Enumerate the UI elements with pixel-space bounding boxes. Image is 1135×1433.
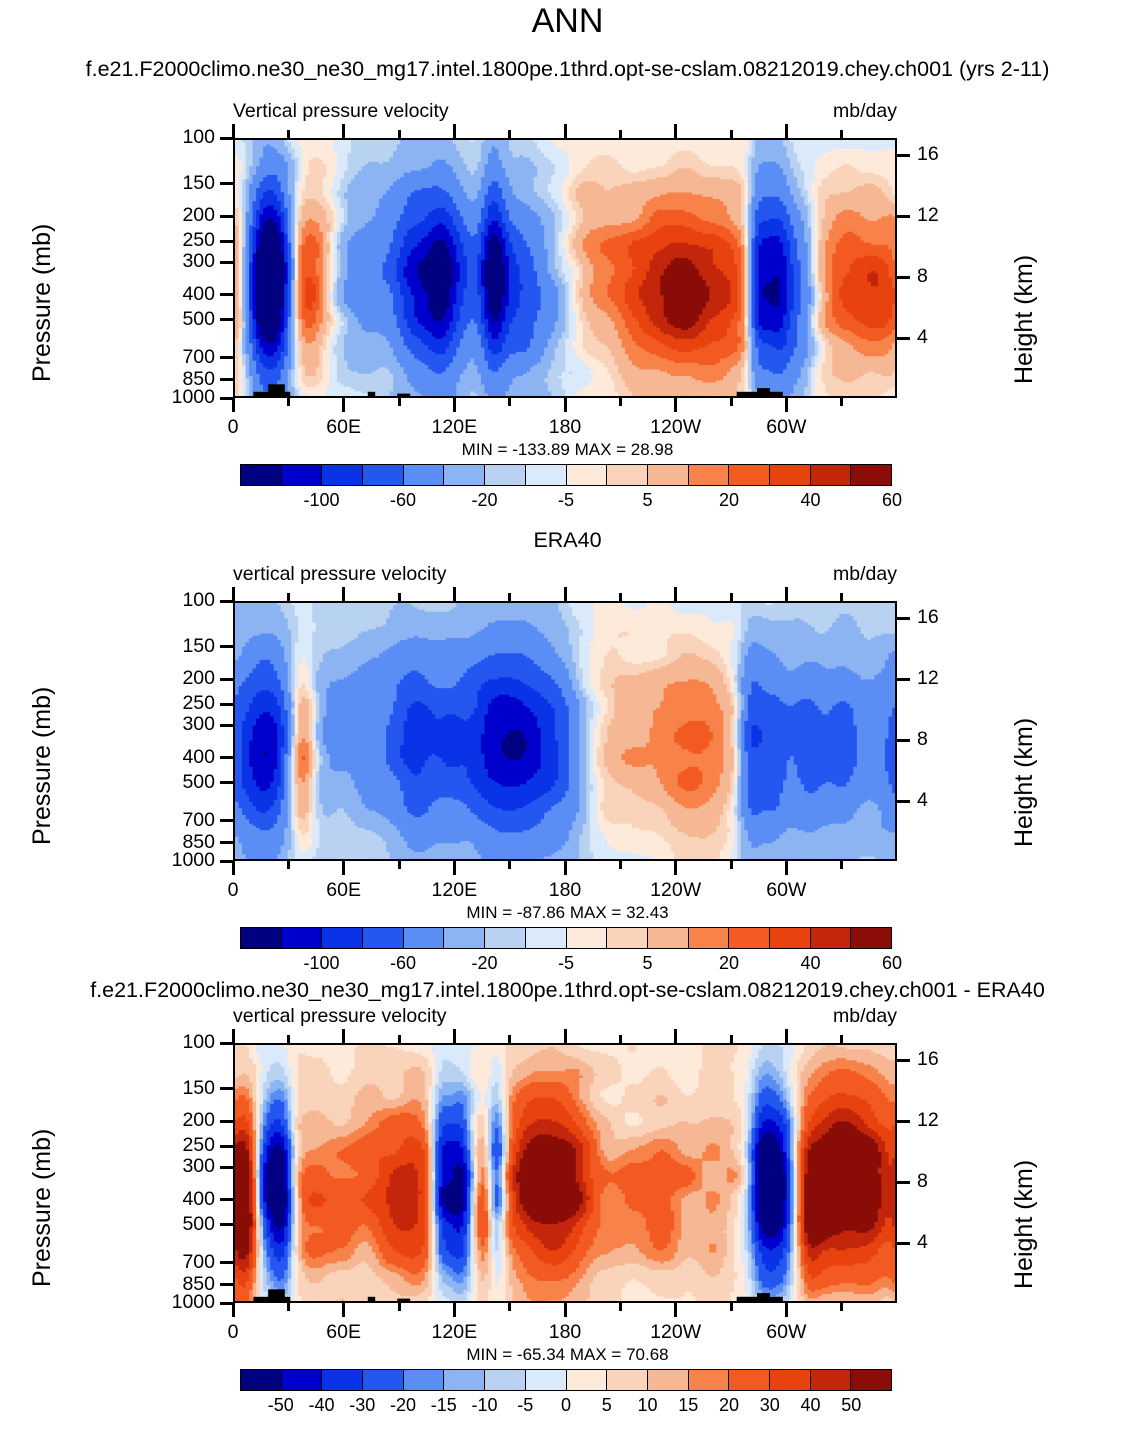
x-tick-bottom bbox=[785, 861, 788, 875]
colorbar-segment bbox=[444, 1370, 485, 1390]
minmax-caption-diff: MIN = -65.34 MAX = 70.68 bbox=[0, 1345, 1135, 1365]
x-tick-top bbox=[785, 587, 788, 601]
y-tick-label: 500 bbox=[151, 308, 215, 331]
y-tick bbox=[220, 356, 233, 359]
y-right-tick-label: 8 bbox=[917, 728, 928, 751]
colorbar-segment bbox=[404, 465, 445, 485]
y-tick-label: 150 bbox=[151, 172, 215, 195]
y-right-tick-label: 8 bbox=[917, 265, 928, 288]
y-tick bbox=[220, 378, 233, 381]
plot-area-model bbox=[233, 138, 897, 398]
y-tick-label: 300 bbox=[151, 1155, 215, 1178]
y-tick-label: 200 bbox=[151, 204, 215, 227]
colorbar-segment bbox=[404, 928, 445, 948]
x-minor-tick-bottom bbox=[398, 398, 401, 406]
x-tick-top bbox=[232, 1029, 235, 1043]
colorbar-segment bbox=[729, 928, 770, 948]
minmax-caption-obs: MIN = -87.86 MAX = 32.43 bbox=[0, 903, 1135, 923]
colorbar-tick-label: -10 bbox=[471, 1395, 497, 1416]
colorbar-segment bbox=[851, 465, 891, 485]
y-tick bbox=[220, 819, 233, 822]
y-right-tick bbox=[897, 1059, 910, 1062]
y-right-tick bbox=[897, 678, 910, 681]
y-axis-label-right-obs: Height (km) bbox=[1010, 718, 1039, 847]
x-minor-tick-top bbox=[287, 130, 290, 138]
units-label-model: mb/day bbox=[667, 100, 897, 123]
x-tick-bottom bbox=[674, 398, 677, 412]
y-tick bbox=[220, 240, 233, 243]
x-minor-tick-top bbox=[287, 593, 290, 601]
colorbar-strip bbox=[240, 1369, 892, 1391]
colorbar-tick-label: -40 bbox=[308, 1395, 334, 1416]
x-tick-bottom bbox=[232, 1303, 235, 1317]
y-tick bbox=[220, 1223, 233, 1226]
colorbar-segment bbox=[689, 928, 730, 948]
contour-field-obs bbox=[235, 603, 897, 861]
y-tick-label: 400 bbox=[151, 283, 215, 306]
field-label-diff: vertical pressure velocity bbox=[233, 1005, 447, 1028]
panel-model: f.e21.F2000climo.ne30_ne30_mg17.intel.18… bbox=[0, 0, 1135, 520]
y-right-tick-label: 4 bbox=[917, 789, 928, 812]
colorbar-tick-label: 40 bbox=[800, 490, 820, 511]
colorbar-tick-label: 15 bbox=[678, 1395, 698, 1416]
x-tick-label: 0 bbox=[183, 416, 283, 439]
x-tick-label: 180 bbox=[515, 1321, 615, 1344]
x-minor-tick-top bbox=[508, 1035, 511, 1043]
colorbar-tick-label: -100 bbox=[303, 490, 339, 511]
x-tick-bottom bbox=[453, 861, 456, 875]
y-axis-label-right-diff: Height (km) bbox=[1010, 1160, 1039, 1289]
x-minor-tick-top bbox=[730, 130, 733, 138]
x-minor-tick-bottom bbox=[398, 861, 401, 869]
y-tick bbox=[220, 703, 233, 706]
y-tick bbox=[220, 841, 233, 844]
x-tick-bottom bbox=[453, 398, 456, 412]
x-minor-tick-bottom bbox=[730, 861, 733, 869]
x-minor-tick-bottom bbox=[730, 1303, 733, 1311]
x-minor-tick-bottom bbox=[840, 1303, 843, 1311]
x-tick-bottom bbox=[785, 398, 788, 412]
y-right-tick-label: 16 bbox=[917, 606, 939, 629]
colorbar-segment bbox=[607, 928, 648, 948]
y-tick bbox=[220, 678, 233, 681]
x-tick-label: 60W bbox=[736, 1321, 836, 1344]
y-tick bbox=[220, 261, 233, 264]
colorbar-segment bbox=[363, 1370, 404, 1390]
y-right-tick-label: 12 bbox=[917, 667, 939, 690]
colorbar-model: -100-60-20-55204060 bbox=[0, 464, 1135, 524]
plot-area-obs bbox=[233, 601, 897, 861]
x-minor-tick-bottom bbox=[730, 398, 733, 406]
units-label-diff: mb/day bbox=[667, 1005, 897, 1028]
x-minor-tick-bottom bbox=[287, 398, 290, 406]
field-label-obs: vertical pressure velocity bbox=[233, 563, 447, 586]
x-tick-top bbox=[674, 1029, 677, 1043]
y-right-tick-label: 8 bbox=[917, 1170, 928, 1193]
y-tick-label: 250 bbox=[151, 1134, 215, 1157]
minmax-caption-model: MIN = -133.89 MAX = 28.98 bbox=[0, 440, 1135, 460]
colorbar-segment bbox=[241, 465, 282, 485]
colorbar-segment bbox=[444, 465, 485, 485]
y-tick bbox=[220, 318, 233, 321]
y-tick-label: 100 bbox=[151, 1031, 215, 1054]
x-tick-bottom bbox=[564, 1303, 567, 1317]
colorbar-segment bbox=[567, 465, 608, 485]
y-tick-label: 400 bbox=[151, 746, 215, 769]
x-minor-tick-top bbox=[619, 1035, 622, 1043]
colorbar-tick-label: -5 bbox=[517, 1395, 533, 1416]
y-tick-label: 150 bbox=[151, 635, 215, 658]
y-tick bbox=[220, 724, 233, 727]
colorbar-segment bbox=[363, 928, 404, 948]
x-tick-top bbox=[232, 587, 235, 601]
colorbar-segment bbox=[729, 1370, 770, 1390]
x-tick-bottom bbox=[564, 398, 567, 412]
colorbar-segment bbox=[485, 465, 526, 485]
x-minor-tick-top bbox=[398, 1035, 401, 1043]
y-right-tick-label: 16 bbox=[917, 1048, 939, 1071]
panel-title-obs: ERA40 bbox=[0, 528, 1135, 553]
colorbar-segment bbox=[241, 928, 282, 948]
colorbar-segment bbox=[444, 928, 485, 948]
x-minor-tick-bottom bbox=[398, 1303, 401, 1311]
x-tick-label: 0 bbox=[183, 879, 283, 902]
colorbar-segment bbox=[770, 465, 811, 485]
colorbar-segment bbox=[770, 928, 811, 948]
y-axis-label-obs: Pressure (mb) bbox=[28, 687, 57, 845]
x-minor-tick-top bbox=[287, 1035, 290, 1043]
figure-page: ANN f.e21.F2000climo.ne30_ne30_mg17.inte… bbox=[0, 0, 1135, 1433]
x-tick-label: 60E bbox=[294, 1321, 394, 1344]
x-tick-top bbox=[453, 1029, 456, 1043]
colorbar-segment bbox=[689, 465, 730, 485]
y-right-tick-label: 12 bbox=[917, 204, 939, 227]
colorbar-segment bbox=[322, 1370, 363, 1390]
x-tick-top bbox=[785, 1029, 788, 1043]
y-tick-label: 1000 bbox=[151, 1291, 215, 1314]
y-right-tick bbox=[897, 337, 910, 340]
colorbar-segment bbox=[322, 465, 363, 485]
y-tick-label: 400 bbox=[151, 1188, 215, 1211]
x-tick-label: 60E bbox=[294, 416, 394, 439]
x-minor-tick-top bbox=[730, 593, 733, 601]
y-tick-label: 250 bbox=[151, 692, 215, 715]
x-minor-tick-top bbox=[398, 130, 401, 138]
colorbar-segment bbox=[485, 1370, 526, 1390]
colorbar-tick-label: -15 bbox=[431, 1395, 457, 1416]
contour-field-model bbox=[235, 140, 897, 398]
y-right-tick bbox=[897, 800, 910, 803]
colorbar-strip bbox=[240, 927, 892, 949]
x-minor-tick-bottom bbox=[508, 1303, 511, 1311]
colorbar-segment bbox=[526, 1370, 567, 1390]
y-tick bbox=[220, 1087, 233, 1090]
x-minor-tick-bottom bbox=[840, 398, 843, 406]
colorbar-tick-label: 5 bbox=[602, 1395, 612, 1416]
x-minor-tick-top bbox=[398, 593, 401, 601]
x-minor-tick-bottom bbox=[619, 1303, 622, 1311]
y-axis-label-diff: Pressure (mb) bbox=[28, 1129, 57, 1287]
colorbar-segment bbox=[404, 1370, 445, 1390]
colorbar-segment bbox=[485, 928, 526, 948]
x-tick-bottom bbox=[674, 1303, 677, 1317]
x-tick-bottom bbox=[674, 861, 677, 875]
colorbar-segment bbox=[729, 465, 770, 485]
y-tick-label: 100 bbox=[151, 126, 215, 149]
y-tick bbox=[220, 215, 233, 218]
colorbar-segment bbox=[648, 465, 689, 485]
colorbar-segment bbox=[567, 1370, 608, 1390]
y-tick-label: 1000 bbox=[151, 386, 215, 409]
x-tick-top bbox=[674, 587, 677, 601]
x-tick-bottom bbox=[453, 1303, 456, 1317]
y-tick bbox=[220, 1283, 233, 1286]
panel-title-model: f.e21.F2000climo.ne30_ne30_mg17.intel.18… bbox=[0, 57, 1135, 82]
x-tick-bottom bbox=[342, 861, 345, 875]
x-tick-label: 60E bbox=[294, 879, 394, 902]
x-tick-label: 120E bbox=[404, 416, 504, 439]
y-tick-label: 150 bbox=[151, 1077, 215, 1100]
colorbar-strip bbox=[240, 464, 892, 486]
colorbar-segment bbox=[241, 1370, 282, 1390]
colorbar-segment bbox=[851, 928, 891, 948]
panel-diff: f.e21.F2000climo.ne30_ne30_mg17.intel.18… bbox=[0, 960, 1135, 1433]
x-tick-top bbox=[453, 124, 456, 138]
y-tick-label: 700 bbox=[151, 346, 215, 369]
units-label-obs: mb/day bbox=[667, 563, 897, 586]
colorbar-segment bbox=[363, 465, 404, 485]
colorbar-tick-label: 20 bbox=[719, 490, 739, 511]
colorbar-tick-label: -20 bbox=[390, 1395, 416, 1416]
colorbar-diff: -50-40-30-20-15-10-505101520304050 bbox=[0, 1369, 1135, 1429]
colorbar-segment bbox=[282, 465, 323, 485]
y-right-tick bbox=[897, 1242, 910, 1245]
y-tick-label: 700 bbox=[151, 809, 215, 832]
x-tick-bottom bbox=[232, 861, 235, 875]
x-minor-tick-top bbox=[840, 1035, 843, 1043]
colorbar-tick-label: -5 bbox=[558, 490, 574, 511]
y-tick bbox=[220, 1198, 233, 1201]
x-tick-top bbox=[342, 124, 345, 138]
x-minor-tick-bottom bbox=[619, 398, 622, 406]
x-tick-top bbox=[342, 587, 345, 601]
y-tick-label: 250 bbox=[151, 229, 215, 252]
plot-area-diff bbox=[233, 1043, 897, 1303]
y-right-tick-label: 16 bbox=[917, 143, 939, 166]
y-tick bbox=[220, 781, 233, 784]
colorbar-segment bbox=[689, 1370, 730, 1390]
y-tick bbox=[220, 293, 233, 296]
x-minor-tick-top bbox=[619, 593, 622, 601]
x-tick-label: 120E bbox=[404, 879, 504, 902]
colorbar-segment bbox=[322, 928, 363, 948]
y-tick bbox=[220, 182, 233, 185]
x-tick-top bbox=[564, 587, 567, 601]
colorbar-tick-label: -50 bbox=[268, 1395, 294, 1416]
y-tick bbox=[220, 1166, 233, 1169]
colorbar-tick-label: -20 bbox=[471, 490, 497, 511]
x-tick-top bbox=[785, 124, 788, 138]
colorbar-segment bbox=[851, 1370, 891, 1390]
x-tick-label: 180 bbox=[515, 879, 615, 902]
y-right-tick-label: 4 bbox=[917, 1231, 928, 1254]
x-minor-tick-bottom bbox=[619, 861, 622, 869]
colorbar-tick-label: -30 bbox=[349, 1395, 375, 1416]
colorbar-segment bbox=[811, 1370, 852, 1390]
x-tick-label: 60W bbox=[736, 416, 836, 439]
colorbar-segment bbox=[607, 465, 648, 485]
x-minor-tick-top bbox=[730, 1035, 733, 1043]
field-label-model: Vertical pressure velocity bbox=[233, 100, 449, 123]
colorbar-segment bbox=[282, 1370, 323, 1390]
x-tick-top bbox=[564, 1029, 567, 1043]
y-right-tick bbox=[897, 215, 910, 218]
x-tick-label: 120W bbox=[626, 1321, 726, 1344]
colorbar-tick-label: 10 bbox=[637, 1395, 657, 1416]
y-tick bbox=[220, 645, 233, 648]
colorbar-tick-label: 60 bbox=[882, 490, 902, 511]
colorbar-segment bbox=[607, 1370, 648, 1390]
y-tick-label: 100 bbox=[151, 589, 215, 612]
colorbar-segment bbox=[811, 465, 852, 485]
x-minor-tick-bottom bbox=[287, 1303, 290, 1311]
colorbar-segment bbox=[648, 1370, 689, 1390]
y-tick-label: 500 bbox=[151, 771, 215, 794]
colorbar-tick-label: 30 bbox=[760, 1395, 780, 1416]
x-minor-tick-top bbox=[619, 130, 622, 138]
colorbar-segment bbox=[811, 928, 852, 948]
x-tick-top bbox=[564, 124, 567, 138]
colorbar-tick-label: 40 bbox=[800, 1395, 820, 1416]
colorbar-segment bbox=[526, 928, 567, 948]
y-axis-label-model: Pressure (mb) bbox=[28, 224, 57, 382]
x-tick-label: 120W bbox=[626, 879, 726, 902]
y-tick bbox=[220, 1120, 233, 1123]
x-minor-tick-top bbox=[840, 130, 843, 138]
x-minor-tick-bottom bbox=[508, 861, 511, 869]
x-tick-bottom bbox=[342, 1303, 345, 1317]
y-tick-label: 1000 bbox=[151, 849, 215, 872]
x-tick-top bbox=[453, 587, 456, 601]
x-tick-top bbox=[674, 124, 677, 138]
y-tick-label: 300 bbox=[151, 250, 215, 273]
x-minor-tick-top bbox=[840, 593, 843, 601]
y-tick bbox=[220, 1145, 233, 1148]
y-right-tick bbox=[897, 1120, 910, 1123]
x-tick-label: 120E bbox=[404, 1321, 504, 1344]
x-tick-bottom bbox=[232, 398, 235, 412]
x-minor-tick-bottom bbox=[287, 861, 290, 869]
y-right-tick bbox=[897, 739, 910, 742]
contour-field-diff bbox=[235, 1045, 897, 1303]
y-tick-label: 700 bbox=[151, 1251, 215, 1274]
x-tick-bottom bbox=[564, 861, 567, 875]
x-tick-top bbox=[342, 1029, 345, 1043]
x-minor-tick-top bbox=[508, 593, 511, 601]
colorbar-tick-label: 20 bbox=[719, 1395, 739, 1416]
colorbar-segment bbox=[770, 1370, 811, 1390]
colorbar-tick-label: 0 bbox=[561, 1395, 571, 1416]
x-tick-bottom bbox=[785, 1303, 788, 1317]
y-right-tick-label: 4 bbox=[917, 326, 928, 349]
x-tick-top bbox=[232, 124, 235, 138]
colorbar-tick-label: -60 bbox=[390, 490, 416, 511]
x-minor-tick-bottom bbox=[508, 398, 511, 406]
colorbar-tick-label: 5 bbox=[642, 490, 652, 511]
x-minor-tick-top bbox=[508, 130, 511, 138]
x-tick-label: 0 bbox=[183, 1321, 283, 1344]
y-tick bbox=[220, 756, 233, 759]
y-right-tick bbox=[897, 154, 910, 157]
colorbar-segment bbox=[648, 928, 689, 948]
colorbar-segment bbox=[282, 928, 323, 948]
y-right-tick bbox=[897, 1181, 910, 1184]
y-right-tick bbox=[897, 276, 910, 279]
y-axis-label-right-model: Height (km) bbox=[1010, 255, 1039, 384]
y-tick-label: 300 bbox=[151, 713, 215, 736]
x-tick-bottom bbox=[342, 398, 345, 412]
y-tick-label: 200 bbox=[151, 667, 215, 690]
x-tick-label: 60W bbox=[736, 879, 836, 902]
y-tick bbox=[220, 1261, 233, 1264]
y-right-tick-label: 12 bbox=[917, 1109, 939, 1132]
x-tick-label: 120W bbox=[626, 416, 726, 439]
y-tick-label: 200 bbox=[151, 1109, 215, 1132]
panel-title-diff: f.e21.F2000climo.ne30_ne30_mg17.intel.18… bbox=[0, 978, 1135, 1003]
y-tick-label: 500 bbox=[151, 1213, 215, 1236]
x-tick-label: 180 bbox=[515, 416, 615, 439]
x-minor-tick-bottom bbox=[840, 861, 843, 869]
colorbar-segment bbox=[567, 928, 608, 948]
colorbar-segment bbox=[526, 465, 567, 485]
colorbar-tick-label: 50 bbox=[841, 1395, 861, 1416]
y-right-tick bbox=[897, 617, 910, 620]
